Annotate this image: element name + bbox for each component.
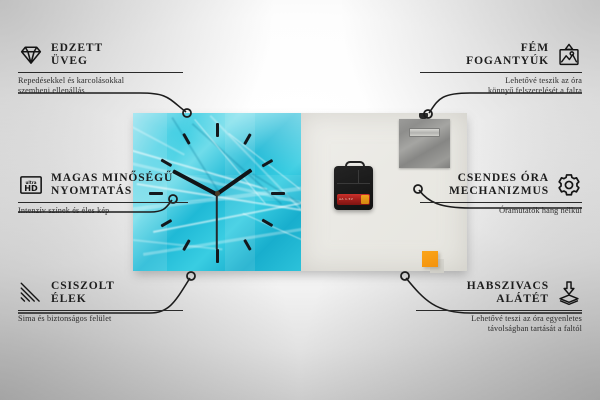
hour-marker [216, 123, 219, 137]
mechanism-seam-2 [358, 170, 359, 184]
gear-icon [556, 172, 582, 198]
feature-desc-line2: könnyű felszerelését a falra [420, 86, 582, 96]
divider [18, 72, 183, 73]
hour-marker [261, 159, 273, 167]
battery-label: AA 1.5V [339, 197, 353, 201]
hanger-slot [409, 128, 440, 137]
feature-callout-tempered-glass[interactable]: EDZETT ÜVEG Repedésekkel és karcolásokka… [18, 42, 183, 96]
feature-title-2: ÜVEG [51, 55, 103, 68]
feature-desc-line1: Intenzív színek és éles kép [18, 206, 188, 216]
hour-marker [216, 249, 219, 263]
hands-center-cap [215, 191, 220, 196]
picture-hanger-icon [556, 42, 582, 68]
diamond-icon [18, 42, 44, 68]
feature-desc-line1: Sima és biztonságos felület [18, 314, 183, 324]
feature-callout-hd-print[interactable]: ultra HD MAGAS MINŐSÉGŰ NYOMTATÁS Intenz… [18, 172, 188, 216]
mechanism-seam [337, 183, 370, 184]
mechanism-hook [345, 161, 365, 170]
foam-pad [422, 251, 438, 267]
hour-marker [271, 192, 285, 195]
feature-title: EDZETT [51, 42, 103, 55]
feature-title-2: ALÁTÉT [467, 293, 549, 306]
metal-hanger-plate [399, 119, 450, 168]
hour-hand [216, 168, 253, 195]
hour-marker [182, 133, 190, 145]
polished-edges-icon [18, 280, 44, 306]
feature-title-2: ÉLEK [51, 293, 115, 306]
feature-callout-polished-edges[interactable]: CSISZOLT ÉLEK Sima és biztonságos felüle… [18, 280, 183, 324]
hour-marker [160, 219, 172, 227]
divider [420, 72, 582, 73]
svg-text:HD: HD [24, 183, 38, 193]
feature-desc-line1: Lehetővé teszi az óra egyenletes [416, 314, 582, 324]
feature-callout-metal-hangers[interactable]: FÉM FOGANTYÚK Lehetővé teszik az óra kön… [420, 42, 582, 96]
hour-marker [243, 239, 251, 251]
feature-desc-line1: Repedésekkel és karcolásokkal [18, 76, 183, 86]
divider [416, 310, 582, 311]
hour-marker [160, 159, 172, 167]
feature-desc-line2: szembeni ellenállás [18, 86, 183, 96]
feature-desc-line2: távolságban tartását a faltól [416, 324, 582, 334]
foam-pad-icon [556, 280, 582, 306]
feature-callout-foam-pad[interactable]: HABSZIVACS ALÁTÉT Lehetővé teszi az óra … [416, 280, 582, 334]
hour-marker [182, 239, 190, 251]
divider [420, 202, 582, 203]
battery-plus-terminal [361, 195, 369, 204]
infographic-canvas: AA 1.5V [0, 0, 600, 400]
second-hand [216, 194, 218, 250]
feature-title-2: FOGANTYÚK [466, 55, 549, 68]
feature-desc-line1: Lehetővé teszik az óra [420, 76, 582, 86]
feature-title-2: MECHANIZMUS [449, 185, 549, 198]
feature-title: FÉM [466, 42, 549, 55]
feature-title: CSISZOLT [51, 280, 115, 293]
feature-title: MAGAS MINŐSÉGŰ [51, 172, 173, 185]
hour-marker [261, 219, 273, 227]
feature-callout-silent-mechanism[interactable]: CSENDES ÓRA MECHANIZMUS Óramutatók hang … [420, 172, 582, 216]
battery: AA 1.5V [337, 194, 370, 205]
clock-mechanism: AA 1.5V [334, 166, 373, 210]
feature-desc-line1: Óramutatók hang nélkül [420, 206, 582, 216]
ultra-hd-icon: ultra HD [18, 172, 44, 198]
hour-marker [243, 133, 251, 145]
feature-title: HABSZIVACS [467, 280, 549, 293]
feature-title: CSENDES ÓRA [449, 172, 549, 185]
divider [18, 310, 183, 311]
feature-title-2: NYOMTATÁS [51, 185, 173, 198]
divider [18, 202, 188, 203]
